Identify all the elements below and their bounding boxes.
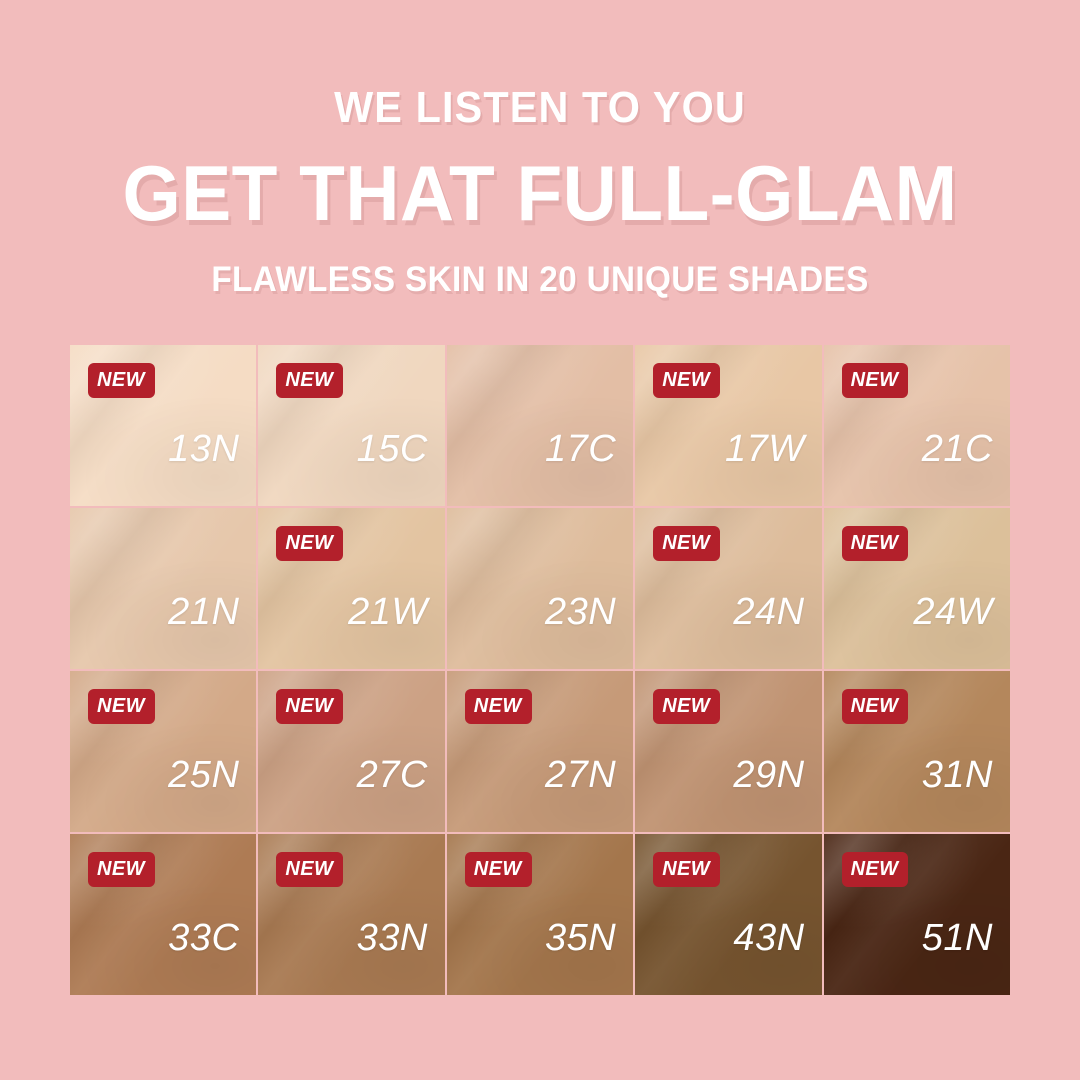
shade-swatch[interactable]: NEW25N <box>70 671 256 832</box>
new-badge: NEW <box>842 852 909 887</box>
new-badge: NEW <box>88 689 155 724</box>
new-badge: NEW <box>842 363 909 398</box>
shade-swatch[interactable]: 17C <box>447 345 633 506</box>
shade-code-label: 31N <box>922 756 993 794</box>
subheading-text: FLAWLESS SKIN IN 20 UNIQUE SHADES <box>27 262 1053 297</box>
new-badge: NEW <box>88 852 155 887</box>
shade-code-label: 43N <box>733 919 804 957</box>
shade-swatch[interactable]: NEW35N <box>447 834 633 995</box>
shade-code-label: 29N <box>733 756 804 794</box>
shade-code-label: 23N <box>545 593 616 631</box>
swatch-shadow-overlay <box>447 345 633 506</box>
swatch-sheen-overlay <box>447 508 633 669</box>
new-badge: NEW <box>465 689 532 724</box>
shade-swatch[interactable]: NEW15C <box>258 345 444 506</box>
shade-code-label: 24N <box>733 593 804 631</box>
shade-swatch[interactable]: NEW17W <box>635 345 821 506</box>
swatch-sheen-overlay <box>447 345 633 506</box>
shade-code-label: 13N <box>168 430 239 468</box>
shade-swatch[interactable]: NEW21W <box>258 508 444 669</box>
shade-grid-container: NEW13NNEW15C17CNEW17WNEW21C21NNEW21W23NN… <box>70 345 1010 995</box>
new-badge: NEW <box>276 363 343 398</box>
swatch-shadow-overlay <box>447 508 633 669</box>
shade-swatch[interactable]: NEW33N <box>258 834 444 995</box>
new-badge: NEW <box>465 852 532 887</box>
shade-swatch[interactable]: NEW24N <box>635 508 821 669</box>
shade-code-label: 21C <box>922 430 993 468</box>
shade-swatch[interactable]: NEW51N <box>824 834 1010 995</box>
shade-code-label: 35N <box>545 919 616 957</box>
shade-code-label: 17C <box>545 430 616 468</box>
new-badge: NEW <box>276 526 343 561</box>
new-badge: NEW <box>276 689 343 724</box>
new-badge: NEW <box>276 852 343 887</box>
new-badge: NEW <box>653 852 720 887</box>
shade-range-promo-graphic: WE LISTEN TO YOU GET THAT FULL-GLAM FLAW… <box>0 0 1080 1080</box>
swatch-shadow-overlay <box>70 508 256 669</box>
new-badge: NEW <box>653 689 720 724</box>
shade-swatch[interactable]: NEW33C <box>70 834 256 995</box>
swatch-sheen-overlay <box>70 508 256 669</box>
shade-code-label: 17W <box>725 430 805 468</box>
new-badge: NEW <box>842 526 909 561</box>
shade-code-label: 25N <box>168 756 239 794</box>
promo-header: WE LISTEN TO YOU GET THAT FULL-GLAM FLAW… <box>0 0 1080 297</box>
shade-grid: NEW13NNEW15C17CNEW17WNEW21C21NNEW21W23NN… <box>70 345 1010 995</box>
shade-swatch[interactable]: NEW43N <box>635 834 821 995</box>
shade-code-label: 24W <box>913 593 993 631</box>
shade-swatch[interactable]: NEW21C <box>824 345 1010 506</box>
shade-swatch[interactable]: 23N <box>447 508 633 669</box>
shade-swatch[interactable]: 21N <box>70 508 256 669</box>
shade-swatch[interactable]: NEW24W <box>824 508 1010 669</box>
shade-swatch[interactable]: NEW13N <box>70 345 256 506</box>
shade-code-label: 33N <box>357 919 428 957</box>
shade-swatch[interactable]: NEW29N <box>635 671 821 832</box>
new-badge: NEW <box>842 689 909 724</box>
shade-code-label: 21N <box>168 593 239 631</box>
shade-code-label: 27N <box>545 756 616 794</box>
shade-swatch[interactable]: NEW31N <box>824 671 1010 832</box>
shade-code-label: 33C <box>168 919 239 957</box>
new-badge: NEW <box>653 363 720 398</box>
shade-swatch[interactable]: NEW27C <box>258 671 444 832</box>
shade-code-label: 51N <box>922 919 993 957</box>
shade-swatch[interactable]: NEW27N <box>447 671 633 832</box>
new-badge: NEW <box>88 363 155 398</box>
page-title: GET THAT FULL-GLAM <box>22 154 1059 232</box>
shade-code-label: 21W <box>348 593 428 631</box>
shade-code-label: 15C <box>357 430 428 468</box>
eyebrow-text: WE LISTEN TO YOU <box>32 86 1047 130</box>
new-badge: NEW <box>653 526 720 561</box>
shade-code-label: 27C <box>357 756 428 794</box>
